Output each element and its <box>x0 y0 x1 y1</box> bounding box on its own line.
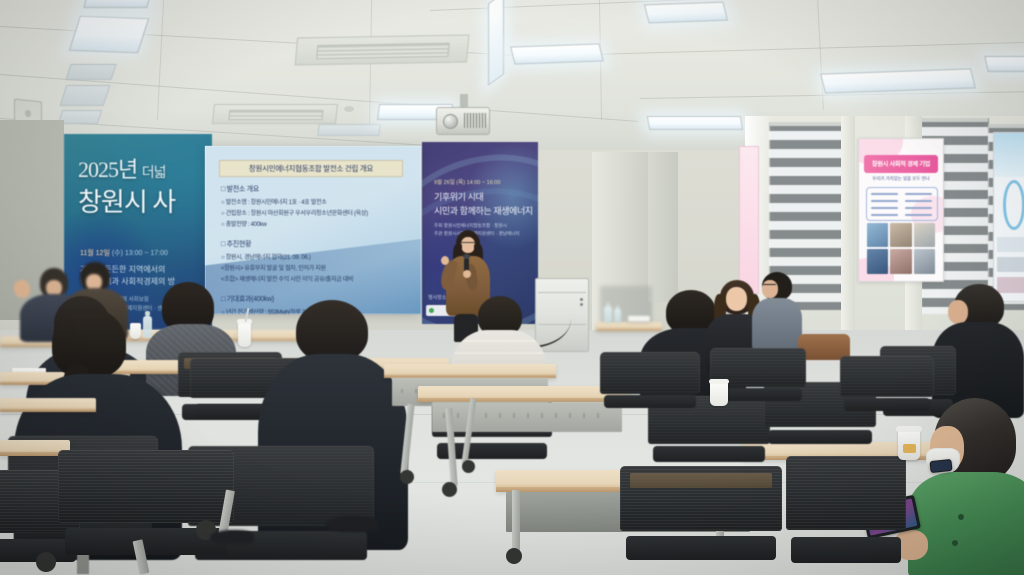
ceiling-panel-light <box>647 116 743 130</box>
smartphone[interactable] <box>929 459 952 473</box>
green-jacket <box>908 472 1024 575</box>
poster-blue-campaign <box>993 132 1024 302</box>
ac-vent <box>295 35 470 66</box>
presenter-hand <box>441 256 449 265</box>
ceiling-panel-light <box>644 2 728 24</box>
mesh-chair[interactable] <box>600 352 700 412</box>
banner-left-year: 2025년 더넓 <box>78 152 166 184</box>
banner-right-date: 9월 26일 (목) 14:00 ~ 16:00 <box>434 178 500 186</box>
slide-line: ○ 총발전량 : 400kw <box>221 219 411 228</box>
table-caster <box>462 460 475 473</box>
jacket-button <box>952 540 958 546</box>
attendee-hair <box>52 308 126 378</box>
jacket-button <box>958 514 964 520</box>
shoe <box>210 530 254 544</box>
ceiling-panel-light <box>65 64 116 80</box>
attendee-face <box>726 287 747 311</box>
paper-cup <box>710 382 728 406</box>
attendee-grey-shirt <box>752 272 802 350</box>
mesh-chair[interactable] <box>620 466 782 575</box>
table-leg <box>512 490 520 554</box>
attendee-shirt <box>752 298 802 350</box>
shoe <box>326 516 378 532</box>
snack-in-cup <box>903 444 916 453</box>
poster-subtitle: 우리가 가치있는 일을 모두 만나 <box>867 176 934 182</box>
poster-photo-grid <box>867 223 936 274</box>
table-caster <box>506 548 522 564</box>
slide-line: <창원시> 유휴부지 발굴 및 절차, 인허가 지원 <box>221 263 411 272</box>
attendee-green-mask <box>900 398 1024 575</box>
slide-line: ○ 건립장소 : 창원시 마산회원구 우서우리청소년문화센터 (옥상) <box>221 208 411 217</box>
window-mullion <box>841 116 855 336</box>
ceiling-panel-light <box>58 110 103 124</box>
ceiling-panel-light <box>317 124 381 136</box>
wall-pillar <box>648 152 678 302</box>
slide-line: ○ 발전소명 : 창원시민에너지 1호 · 4호 발전소 <box>221 197 411 206</box>
seminar-table <box>384 364 556 378</box>
ceiling-panel-light <box>60 85 111 106</box>
ceiling-panel-light <box>69 16 150 53</box>
slide-line: <조합> 재생에너지 발전 수익 시민 이익 공유/출자금 대비 <box>221 274 411 283</box>
attendee-face <box>762 280 778 298</box>
seminar-table <box>418 386 628 402</box>
mesh-chair[interactable] <box>786 456 906 575</box>
seminar-room-photo: 2025년 더넓 창원시 사 11월 12일 (수) 13:00 ~ 17:00… <box>0 0 1024 575</box>
ceiling-panel-light <box>83 0 152 8</box>
banner-right-title-line2: 시민과 함께하는 재생에너지 <box>434 204 533 217</box>
attendee-face <box>948 300 968 324</box>
banner-right-title-line1: 기후위기 시대 <box>434 190 483 203</box>
ceiling-panel-light <box>984 56 1024 72</box>
presentation-slide: 창원시민에너지협동조합 발전소 건립 개요 □ 발전소 개요 ○ 발전소명 : … <box>205 146 421 314</box>
water-bottle <box>604 306 612 323</box>
chair-caster <box>400 470 414 484</box>
paper-cup <box>238 322 251 347</box>
seminar-table <box>0 398 96 412</box>
poster-title-bar: 창원시 사회적 경제 기업 <box>864 155 938 173</box>
slide-body: □ 발전소 개요 ○ 발전소명 : 창원시민에너지 1호 · 4호 발전소 ○ … <box>221 184 411 314</box>
slide-heading: □ 발전소 개요 <box>221 184 411 194</box>
attendee-hair <box>296 300 368 362</box>
mesh-chair[interactable] <box>840 356 934 414</box>
table-modesty-panel <box>432 402 622 432</box>
banner-left-title: 창원시 사 <box>78 182 175 219</box>
chair-caster <box>36 552 56 572</box>
smoke-detector <box>344 106 354 112</box>
slide-line: ○ 창원시, 경남에너지 협약(21. 09. 06.) <box>221 252 411 261</box>
glasses-icon <box>762 284 776 288</box>
ceiling-projector <box>436 94 488 136</box>
presenter-hand <box>463 270 471 278</box>
poster-social-economy: 창원시 사회적 경제 기업 우리가 가치있는 일을 모두 만나 <box>858 138 944 282</box>
ceiling-panel-light <box>510 43 604 64</box>
chair-caster <box>442 482 457 497</box>
slide-title-bar: 창원시민에너지협동조합 발전소 건립 개요 <box>219 160 403 177</box>
glasses-icon <box>461 242 475 246</box>
water-bottle <box>614 308 621 323</box>
ac-vent <box>212 104 338 124</box>
slide-heading: □ 추진현황 <box>221 239 411 249</box>
projection-screen: 창원시민에너지협동조합 발전소 건립 개요 □ 발전소 개요 ○ 발전소명 : … <box>205 146 421 314</box>
ceiling-panel-light <box>488 0 504 86</box>
banner-left-date: 11월 12일 (수) 13:00 ~ 17:00 <box>80 248 168 258</box>
poster-bullets <box>866 187 939 220</box>
ceiling-panel-light <box>820 68 976 93</box>
